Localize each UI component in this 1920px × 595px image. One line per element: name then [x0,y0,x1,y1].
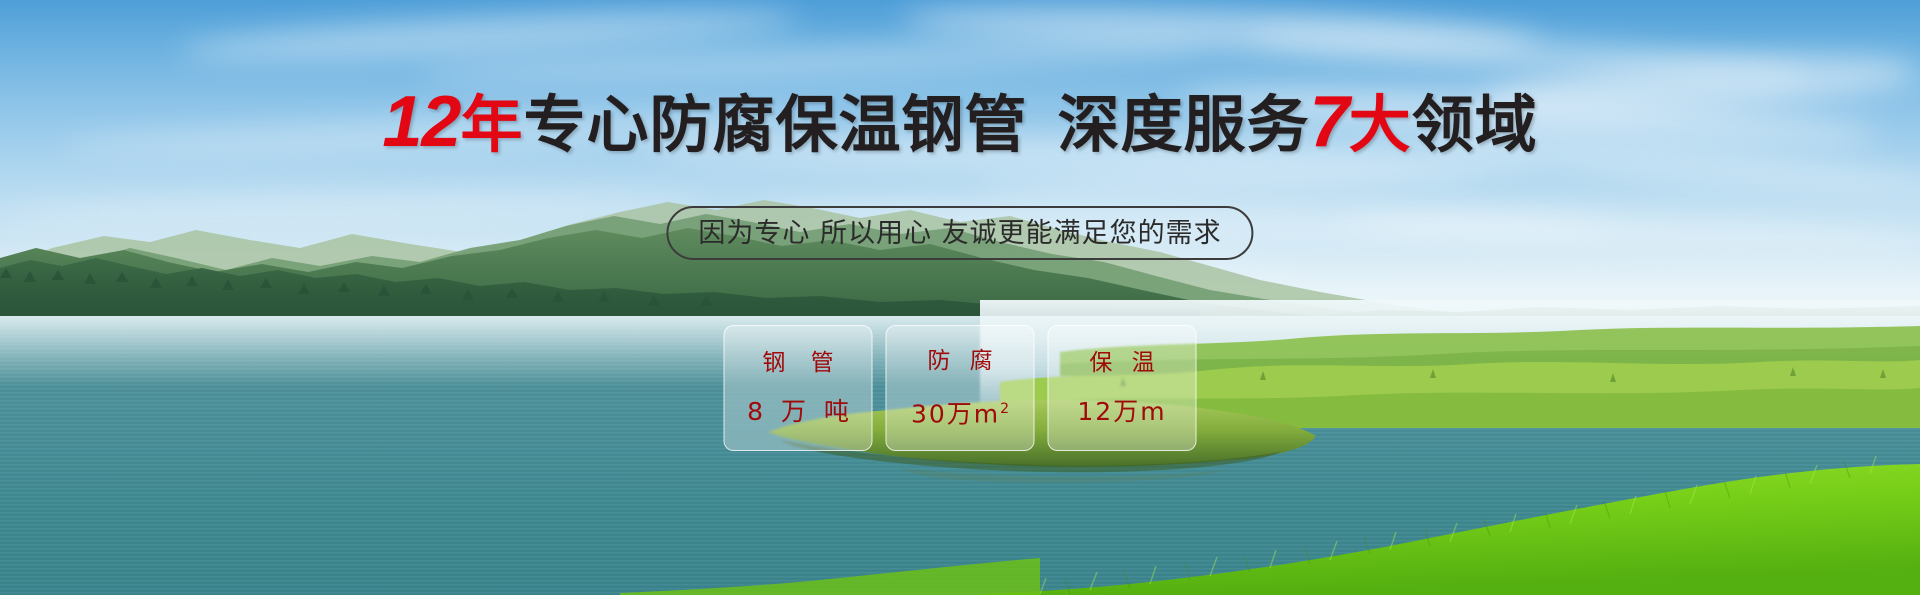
stat-card-value-text: 30万m [911,399,1000,428]
headline-part-three: 领域 [1412,88,1538,161]
stat-card-label: 钢 管 [753,352,842,375]
stat-card-value: 30万m2 [911,397,1009,426]
stat-card-steel-pipe[interactable]: 钢 管 8 万 吨 [724,325,873,451]
page-title: 12年专心防腐保温钢管深度服务7大领域 [0,86,1920,161]
headline-part-one: 专心防腐保温钢管 [524,88,1028,161]
stat-card-group: 钢 管 8 万 吨 防 腐 30万m2 保 温 12万m [724,325,1197,451]
subtitle-pill: 因为专心 所以用心 友诚更能满足您的需求 [666,206,1253,260]
stat-card-value-superscript: 2 [1000,401,1009,417]
headline-part-two: 深度服务 [1058,88,1310,161]
banner-content: 12年专心防腐保温钢管深度服务7大领域 因为专心 所以用心 友诚更能满足您的需求… [0,0,1920,595]
stat-card-insulation[interactable]: 保 温 12万m [1048,325,1197,451]
stat-card-value: 8 万 吨 [742,399,854,424]
stat-card-value: 12万m [1077,399,1166,424]
stat-card-anticorrosion[interactable]: 防 腐 30万m2 [886,325,1035,451]
headline-years-number: 12 [382,82,460,162]
headline-domains-unit-da: 大 [1349,88,1412,161]
subtitle-text: 因为专心 所以用心 友诚更能满足您的需求 [698,220,1221,247]
headline-domains-number: 7 [1310,82,1349,162]
headline-years-unit: 年 [460,88,523,161]
stat-card-label: 保 温 [1083,352,1160,375]
hero-banner: 12年专心防腐保温钢管深度服务7大领域 因为专心 所以用心 友诚更能满足您的需求… [0,0,1920,595]
stat-card-label: 防 腐 [921,350,998,373]
